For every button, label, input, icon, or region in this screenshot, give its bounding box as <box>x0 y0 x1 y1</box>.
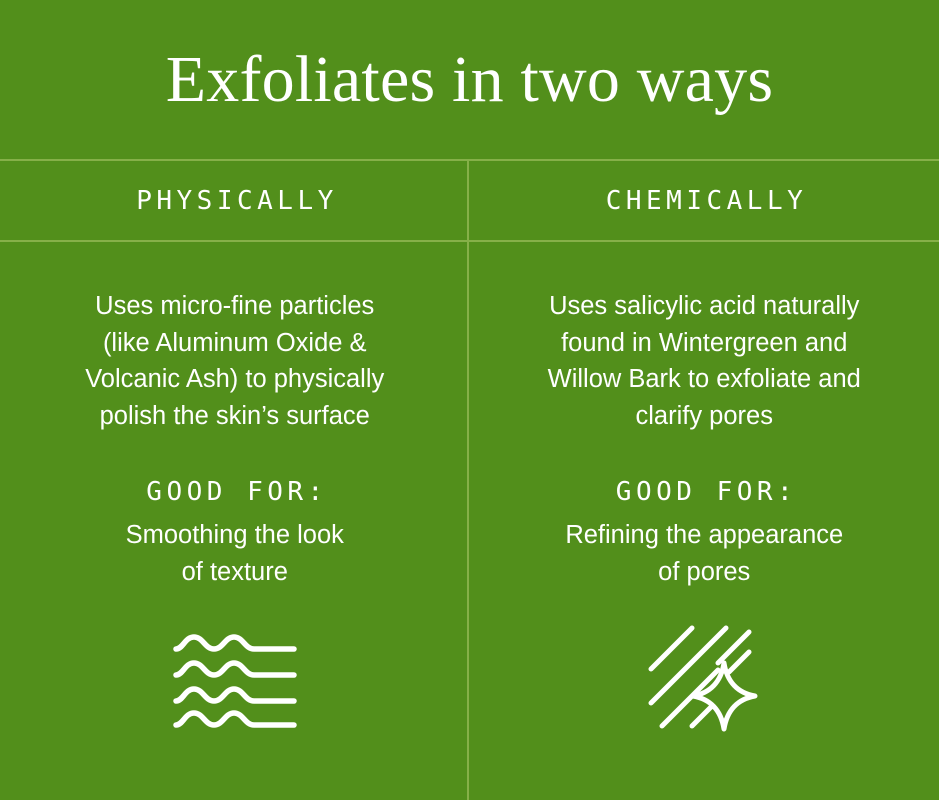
column-chemically: Uses salicylic acid naturally found in W… <box>470 242 939 800</box>
good-for-description: Smoothing the look of texture <box>126 517 344 590</box>
good-for-description: Refining the appearance of pores <box>565 517 843 590</box>
column-header-row: PHYSICALLY CHEMICALLY <box>0 161 939 240</box>
title-band: Exfoliates in two ways <box>0 0 939 160</box>
good-for-label: GOOD FOR: <box>142 479 328 505</box>
column-heading-label: PHYSICALLY <box>132 188 338 214</box>
column-description: Uses salicylic acid naturally found in W… <box>548 288 861 434</box>
page-title: Exfoliates in two ways <box>166 47 773 113</box>
column-header-physically: PHYSICALLY <box>0 161 470 240</box>
column-description: Uses micro-fine particles (like Aluminum… <box>85 288 384 434</box>
comparison-columns: Uses micro-fine particles (like Aluminum… <box>0 242 939 800</box>
good-for-label: GOOD FOR: <box>611 479 797 505</box>
sparkle-diagonal-lines-icon <box>639 626 769 736</box>
column-header-chemically: CHEMICALLY <box>470 161 939 240</box>
column-heading-label: CHEMICALLY <box>601 188 807 214</box>
wavy-lines-icon <box>170 626 300 736</box>
exfoliation-comparison-infographic: Exfoliates in two ways PHYSICALLY CHEMIC… <box>0 0 939 800</box>
column-physically: Uses micro-fine particles (like Aluminum… <box>0 242 470 800</box>
